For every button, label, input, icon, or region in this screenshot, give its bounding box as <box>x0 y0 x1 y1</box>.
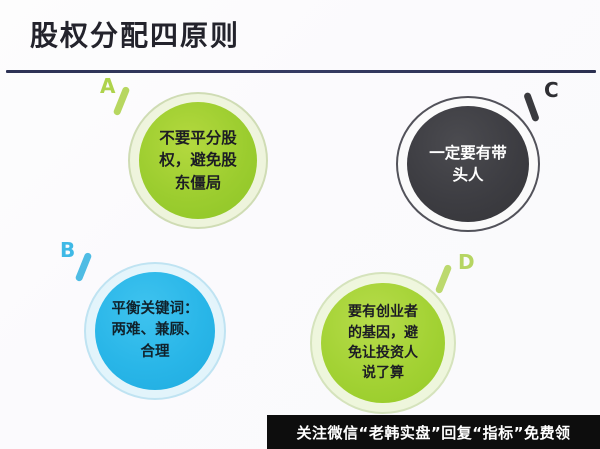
page-title: 股权分配四原则 <box>30 14 240 54</box>
marker-slash-icon-d <box>435 264 453 294</box>
promo-banner-text: 关注微信“老韩实盘”回复“指标”免费领 <box>297 422 571 443</box>
principle-circle-a[interactable]: 不要平分股 权，避免股 东僵局 <box>128 92 268 229</box>
marker-slash-icon-c <box>523 92 540 123</box>
marker-letter-d: D <box>458 250 475 274</box>
marker-c: C <box>518 82 566 134</box>
promo-banner: 关注微信“老韩实盘”回复“指标”免费领 <box>267 415 600 449</box>
marker-letter-c: C <box>544 78 559 102</box>
principle-text-c: 一定要有带 头人 <box>429 142 507 187</box>
principle-text-a: 不要平分股 权，避免股 东僵局 <box>159 127 237 194</box>
marker-letter-b: B <box>60 238 75 262</box>
title-divider <box>6 70 596 73</box>
principle-text-d: 要有创业者 的基因，避 免让投资人 说了算 <box>348 302 418 383</box>
principle-text-b: 平衡关键词： 两难、兼顾、 合理 <box>112 299 199 362</box>
marker-slash-icon-b <box>75 252 93 282</box>
marker-a: A <box>100 76 148 128</box>
marker-b: B <box>60 240 108 292</box>
slide-canvas: 股权分配四原则 不要平分股 权，避免股 东僵局 A 平衡关键词： 两难、兼顾、 … <box>0 0 600 449</box>
marker-letter-a: A <box>100 74 115 98</box>
marker-d: D <box>432 254 480 306</box>
